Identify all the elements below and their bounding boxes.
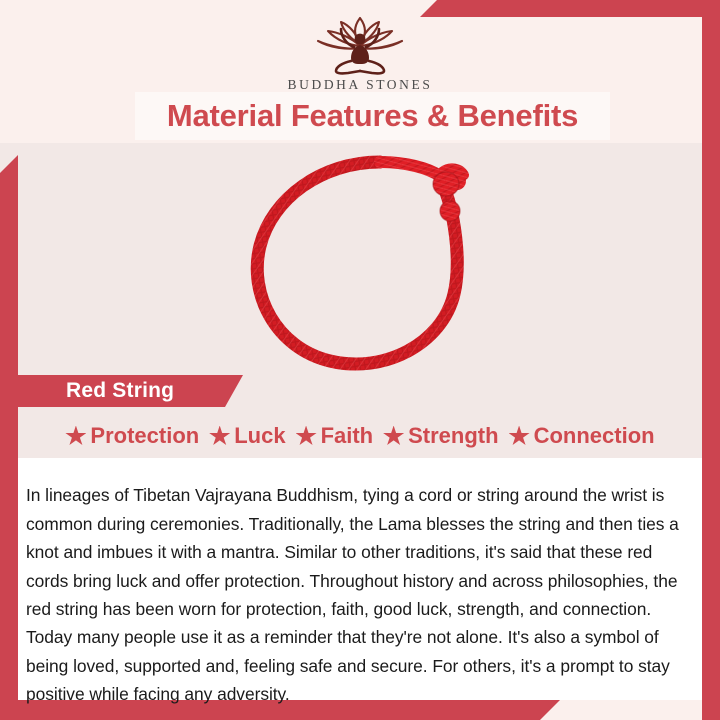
feature-label: Protection: [90, 423, 199, 449]
decorative-left-bar: [0, 155, 18, 720]
product-image: [18, 145, 702, 375]
star-icon: [509, 426, 530, 447]
headline-band: Material Features & Benefits: [135, 92, 610, 140]
feature-label: Strength: [408, 423, 498, 449]
star-icon: [296, 426, 317, 447]
feature-label: Faith: [321, 423, 374, 449]
feature-item: Strength: [379, 423, 502, 449]
page-title: Material Features & Benefits: [167, 98, 578, 134]
feature-item: Faith: [292, 423, 378, 449]
description-text: In lineages of Tibetan Vajrayana Buddhis…: [26, 481, 686, 708]
star-icon: [209, 426, 230, 447]
product-label-banner: Red String: [18, 375, 243, 407]
red-string-bracelet-illustration: [226, 148, 494, 373]
star-icon: [383, 426, 404, 447]
feature-label: Luck: [234, 423, 285, 449]
star-icon: [65, 426, 86, 447]
feature-item: Protection: [61, 423, 203, 449]
feature-label: Connection: [534, 423, 655, 449]
description-panel: In lineages of Tibetan Vajrayana Buddhis…: [18, 458, 702, 700]
brand-name: BUDDHA STONES: [0, 77, 720, 93]
feature-item: Luck: [205, 423, 289, 449]
lotus-meditation-icon: [296, 14, 424, 76]
features-list: Protection Luck Faith Strength Connectio…: [18, 418, 702, 454]
decorative-right-bar: [702, 0, 720, 720]
brand-logo: BUDDHA STONES: [0, 14, 720, 93]
product-label: Red String: [66, 379, 174, 403]
feature-item: Connection: [505, 423, 659, 449]
infographic-poster: BUDDHA STONES Material Features & Benefi…: [0, 0, 720, 720]
